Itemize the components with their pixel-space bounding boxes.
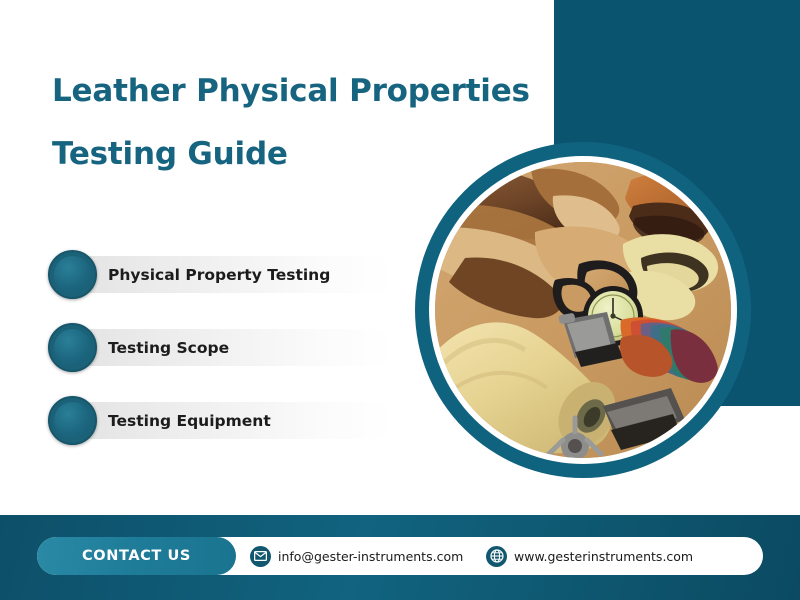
bullet-circle-icon (48, 323, 97, 372)
bullet-circle-icon (48, 396, 97, 445)
email-text: info@gester-instruments.com (278, 549, 463, 564)
envelope-icon (250, 546, 271, 567)
photo-ring (415, 142, 751, 478)
footer-bar: CONTACT US info@gester-instruments.com (0, 515, 800, 600)
email-contact[interactable]: info@gester-instruments.com (250, 537, 463, 575)
bullet-label: Testing Scope (108, 323, 229, 372)
title-line-2: Testing Guide (52, 123, 532, 186)
bullet-label: Testing Equipment (108, 396, 271, 445)
list-item[interactable]: Testing Equipment (48, 396, 393, 445)
list-item[interactable]: Testing Scope (48, 323, 393, 372)
globe-icon (486, 546, 507, 567)
bullet-circle-icon (48, 250, 97, 299)
contact-us-label: CONTACT US (82, 548, 191, 564)
list-item[interactable]: Physical Property Testing (48, 250, 393, 299)
website-text: www.gesterinstruments.com (514, 549, 693, 564)
contact-us-button[interactable]: CONTACT US (37, 537, 236, 575)
slide-canvas: Leather Physical Properties Testing Guid… (0, 0, 800, 600)
contact-strip: CONTACT US info@gester-instruments.com (37, 537, 763, 575)
page-title: Leather Physical Properties Testing Guid… (52, 60, 532, 186)
leather-samples-photo (435, 162, 731, 458)
title-line-1: Leather Physical Properties (52, 60, 532, 123)
website-contact[interactable]: www.gesterinstruments.com (486, 537, 693, 575)
bullet-label: Physical Property Testing (108, 250, 330, 299)
agenda-list: Physical Property Testing Testing Scope … (48, 250, 393, 469)
